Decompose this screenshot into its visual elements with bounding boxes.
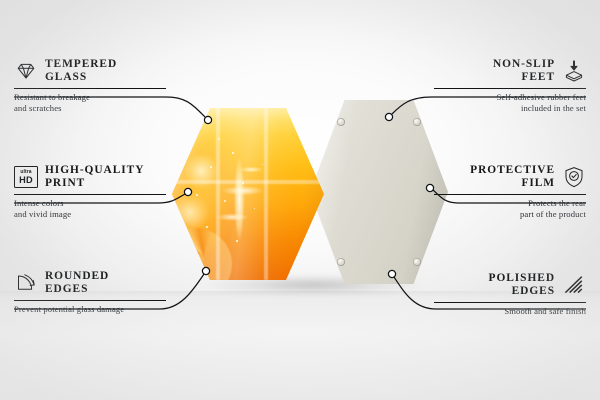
feature-desc-line1: Self-adhesive rubber feet <box>434 92 586 102</box>
feature-title: TEMPERED GLASS <box>45 58 117 85</box>
front-printed-board <box>172 108 324 280</box>
rubber-foot <box>337 118 345 126</box>
feature-rounded-edges: ROUNDED EDGES Prevent potential glass da… <box>14 270 166 315</box>
feature-desc-line2: included in the set <box>434 103 586 113</box>
feature-title: ROUNDED EDGES <box>45 270 109 297</box>
feature-protective-film: PROTECTIVE FILM Protects the rear part o… <box>434 164 586 219</box>
feature-polished-edges: POLISHED EDGES Smooth and safe finish <box>434 272 586 317</box>
feature-title: PROTECTIVE FILM <box>470 164 555 191</box>
feature-desc-line1: Prevent potential glass damage <box>14 304 166 314</box>
feature-divider <box>14 300 166 301</box>
rubber-foot <box>413 258 421 266</box>
feature-title: NON-SLIP FEET <box>493 58 555 85</box>
feature-header: ultra HD HIGH-QUALITY PRINT <box>14 164 166 191</box>
rubber-foot <box>413 118 421 126</box>
shield-check-icon <box>562 165 586 189</box>
feature-desc-line2: and vivid image <box>14 209 166 219</box>
rear-board <box>310 100 448 284</box>
feature-header: POLISHED EDGES <box>434 272 586 299</box>
feature-header: TEMPERED GLASS <box>14 58 166 85</box>
feature-divider <box>14 194 166 195</box>
ultra-hd-icon-bottom-label: HD <box>19 176 33 185</box>
feature-header: NON-SLIP FEET <box>434 58 586 85</box>
ultra-hd-icon: ultra HD <box>14 166 38 188</box>
front-board-edge-highlight <box>172 108 324 280</box>
infographic-canvas: TEMPERED GLASS Resistant to breakage and… <box>0 0 600 400</box>
feature-desc-line2: part of the product <box>434 209 586 219</box>
feature-desc-line1: Protects the rear <box>434 198 586 208</box>
rubber-foot <box>337 258 345 266</box>
feature-divider <box>14 88 166 89</box>
feature-tempered-glass: TEMPERED GLASS Resistant to breakage and… <box>14 58 166 113</box>
feature-desc-line2: and scratches <box>14 103 166 113</box>
feature-title: HIGH-QUALITY PRINT <box>45 164 144 191</box>
feature-desc-line1: Intense colors <box>14 198 166 208</box>
diamond-icon <box>14 59 38 83</box>
rounded-corner-icon <box>14 271 38 295</box>
feature-header: ROUNDED EDGES <box>14 270 166 297</box>
diagonal-stripes-icon <box>562 273 586 297</box>
feature-header: PROTECTIVE FILM <box>434 164 586 191</box>
feature-desc-line1: Smooth and safe finish <box>434 306 586 316</box>
feature-desc-line1: Resistant to breakage <box>14 92 166 102</box>
feature-divider <box>434 302 586 303</box>
feature-divider <box>434 194 586 195</box>
rear-board-edge-highlight <box>310 100 448 284</box>
feature-title: POLISHED EDGES <box>489 272 555 299</box>
feature-non-slip-feet: NON-SLIP FEET Self-adhesive rubber feet … <box>434 58 586 113</box>
feature-high-quality-print: ultra HD HIGH-QUALITY PRINT Intense colo… <box>14 164 166 219</box>
feature-divider <box>434 88 586 89</box>
press-foot-icon <box>562 59 586 83</box>
